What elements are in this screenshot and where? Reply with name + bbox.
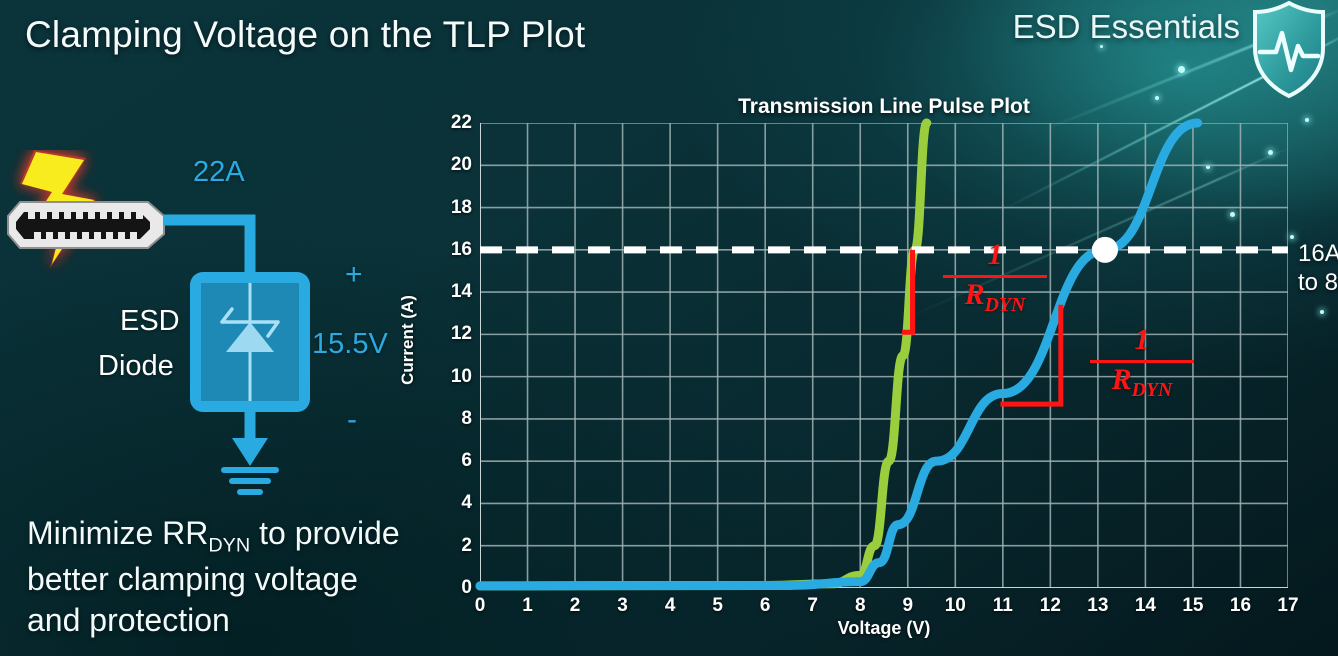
chart-y-ticks: 0246810121416182022 — [400, 123, 472, 588]
x-tick-label: 11 — [993, 595, 1013, 617]
slope-annotation-1-denominator: RDYN — [943, 280, 1047, 316]
page-title: Clamping Voltage on the TLP Plot — [25, 14, 585, 56]
y-tick-label: 12 — [451, 323, 472, 345]
threshold-marker-point[interactable] — [1092, 237, 1118, 263]
caption-line-3: and protection — [27, 600, 447, 641]
chart-title: Transmission Line Pulse Plot — [480, 95, 1288, 119]
y-tick-label: 22 — [451, 112, 472, 134]
y-tick-label: 20 — [451, 154, 472, 176]
x-tick-label: 1 — [522, 595, 533, 617]
brand-label: ESD Essentials — [1013, 8, 1240, 46]
slope-1-den-sub: DYN — [985, 294, 1026, 316]
x-tick-label: 3 — [617, 595, 628, 617]
slope-annotation-2-denominator: RDYN — [1090, 365, 1194, 401]
voltage-label: 15.5V — [312, 328, 388, 361]
caption-line-1-b: to provide — [250, 515, 399, 551]
threshold-annotation-line-2: to 8kV IEC — [1298, 269, 1338, 298]
slope-annotation-2-bar — [1090, 360, 1194, 363]
slope-annotation-2-numerator: 1 — [1090, 325, 1194, 357]
y-tick-label: 6 — [461, 450, 472, 472]
x-tick-label: 14 — [1135, 595, 1156, 617]
x-tick-label: 15 — [1182, 595, 1203, 617]
chart-x-ticks: 01234567891011121314151617 — [480, 595, 1288, 621]
current-label: 22A — [193, 156, 245, 189]
ground-symbol-icon — [224, 408, 276, 492]
caption-line-1-a: Minimize R — [27, 515, 185, 551]
x-tick-label: 12 — [1040, 595, 1061, 617]
component-label-line2: Diode — [98, 350, 174, 383]
caption-text: Minimize RRDYN to provide better clampin… — [27, 513, 447, 641]
tvs-diode-icon — [190, 272, 310, 412]
y-tick-label: 18 — [451, 197, 472, 219]
chart-series-0 — [480, 123, 927, 586]
caption-line-2: better clamping voltage — [27, 559, 447, 600]
y-tick-label: 0 — [461, 577, 472, 599]
slope-annotation-1: 1 RDYN — [943, 240, 1047, 316]
slide-canvas: Clamping Voltage on the TLP Plot ESD Ess… — [0, 0, 1338, 656]
x-tick-label: 5 — [712, 595, 723, 617]
y-tick-label: 16 — [451, 239, 472, 261]
polarity-plus-label: + — [345, 258, 363, 292]
threshold-annotation-line-1: 16A corresponds — [1298, 240, 1338, 269]
y-tick-label: 8 — [461, 408, 472, 430]
tlp-chart: Transmission Line Pulse Plot Current (A)… — [400, 90, 1338, 656]
caption-line-1: Minimize RRDYN to provide — [27, 513, 447, 559]
hdmi-connector-icon — [8, 202, 164, 248]
slope-1-den-base: R — [965, 278, 985, 311]
caption-rdyn-base: R — [185, 515, 208, 551]
x-tick-label: 0 — [475, 595, 486, 617]
component-label-line1: ESD — [120, 305, 180, 338]
x-tick-label: 6 — [760, 595, 771, 617]
caption-rdyn-sub: DYN — [208, 534, 250, 556]
slope-2-den-base: R — [1112, 363, 1132, 396]
slope-annotation-2: 1 RDYN — [1090, 325, 1194, 401]
x-tick-label: 13 — [1087, 595, 1108, 617]
slope-annotation-1-numerator: 1 — [943, 240, 1047, 272]
slope-2-den-sub: DYN — [1132, 379, 1173, 401]
threshold-annotation: 16A corresponds to 8kV IEC — [1298, 240, 1338, 298]
x-tick-label: 16 — [1230, 595, 1251, 617]
x-tick-label: 7 — [807, 595, 818, 617]
slope-annotation-1-bar — [943, 275, 1047, 278]
polarity-minus-label: - — [347, 403, 357, 437]
x-tick-label: 9 — [902, 595, 913, 617]
x-tick-label: 8 — [855, 595, 866, 617]
y-tick-label: 2 — [461, 535, 472, 557]
particle-dot — [1178, 66, 1185, 73]
x-tick-label: 4 — [665, 595, 676, 617]
y-tick-label: 14 — [451, 281, 472, 303]
x-tick-label: 2 — [570, 595, 581, 617]
x-tick-label: 10 — [945, 595, 966, 617]
circuit-wire — [163, 220, 250, 274]
y-tick-label: 10 — [451, 366, 472, 388]
shield-pulse-icon — [1246, 0, 1332, 100]
x-tick-label: 17 — [1277, 595, 1298, 617]
y-tick-label: 4 — [461, 492, 472, 514]
esd-circuit-diagram: 22A ESD Diode 15.5V + - — [0, 150, 430, 510]
chart-x-axis-label: Voltage (V) — [480, 618, 1288, 639]
